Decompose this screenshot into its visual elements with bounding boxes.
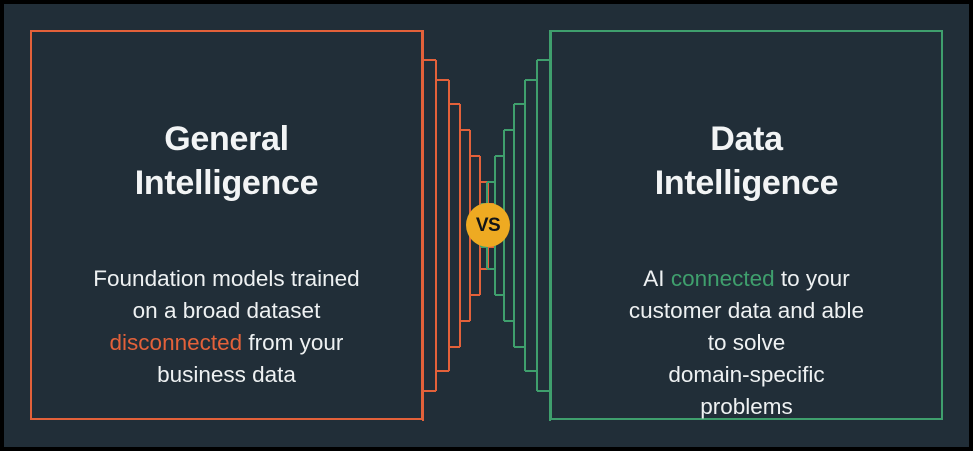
canvas: General Intelligence Foundation models t… <box>4 4 969 447</box>
vs-badge: VS <box>466 203 510 247</box>
panel-general-intelligence: General Intelligence Foundation models t… <box>30 30 423 420</box>
right-body-highlight: connected <box>671 266 775 291</box>
right-panel-title: Data Intelligence <box>552 118 941 205</box>
right-panel-body: AI connected to your customer data and a… <box>552 231 941 423</box>
left-body-text-1: Foundation models trained on a broad dat… <box>93 266 359 323</box>
left-panel-body: Foundation models trained on a broad dat… <box>32 231 421 391</box>
comparison-graphic: General Intelligence Foundation models t… <box>0 0 973 451</box>
vs-badge-label: VS <box>476 216 500 235</box>
panel-data-intelligence: Data Intelligence AI connected to your c… <box>550 30 943 420</box>
left-panel-title: General Intelligence <box>32 118 421 205</box>
right-body-text-1: AI <box>643 266 671 291</box>
left-body-highlight: disconnected <box>110 330 243 355</box>
